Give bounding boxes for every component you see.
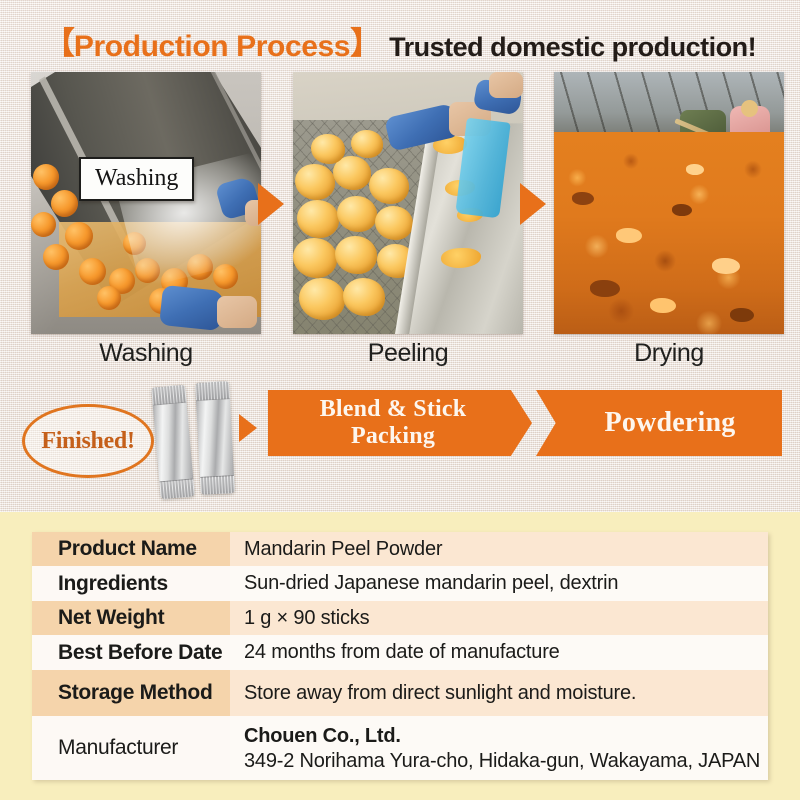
title-bracket-open: 【: [44, 26, 74, 62]
packet-crimp-bottom: [159, 478, 194, 499]
title-bracket-close: 】: [350, 26, 380, 62]
peeled-fruit: [343, 278, 385, 316]
manufacturer-address: 349-2 Norihama Yura-cho, Hidaka-gun, Wak…: [244, 750, 768, 773]
arrow-right-icon: [258, 183, 284, 225]
orange-fruit: [43, 244, 69, 270]
row-label-storage-method: Storage Method: [32, 670, 230, 716]
finished-badge: Finished!: [22, 404, 154, 478]
drying-photo: [554, 72, 784, 334]
packet-crimp-bottom: [200, 475, 235, 495]
orange-fruit: [33, 164, 59, 190]
process-step-peeling: Peeling: [293, 72, 523, 334]
stick-packet: [195, 381, 235, 495]
peeled-fruit: [369, 168, 409, 204]
arrow-right-icon: [520, 183, 546, 225]
worker-glove: [159, 285, 225, 331]
dried-peel-fleck: [616, 228, 642, 243]
peeled-fruit: [297, 200, 339, 238]
arrow-left-flow-icon: [239, 414, 257, 442]
product-info-band: Product Name Mandarin Peel Powder Ingred…: [0, 512, 800, 800]
manufacturer-name: Chouen Co., Ltd.: [244, 725, 768, 748]
title-tagline: Trusted domestic production!: [389, 32, 756, 62]
infographic-page: 【Production Process】Trusted domestic pro…: [0, 0, 800, 800]
blend-line-2: Packing: [351, 423, 435, 449]
dried-peel-fleck: [730, 308, 754, 322]
title-accent-text: Production Process: [74, 30, 350, 63]
peeled-fruit: [295, 164, 335, 200]
packet-crimp-top: [151, 385, 186, 406]
peeled-fruit: [351, 130, 383, 158]
caption-peeling: Peeling: [293, 339, 523, 368]
table-row: Manufacturer Chouen Co., Ltd. 349-2 Nori…: [32, 716, 768, 780]
row-label-manufacturer: Manufacturer: [32, 716, 230, 780]
row-label-product-name: Product Name: [32, 532, 230, 566]
page-title: 【Production Process】Trusted domestic pro…: [0, 18, 800, 64]
peeled-fruit: [293, 238, 337, 278]
peeled-fruit: [311, 134, 345, 164]
finished-label: Finished!: [41, 428, 134, 455]
row-value-product-name: Mandarin Peel Powder: [230, 532, 768, 566]
peeled-fruit: [337, 196, 377, 232]
row-value-storage-method: Store away from direct sunlight and mois…: [230, 670, 768, 716]
row-value-ingredients: Sun-dried Japanese mandarin peel, dextri…: [230, 566, 768, 601]
stick-packet: [151, 385, 195, 500]
row-value-net-weight: 1 g × 90 sticks: [230, 601, 768, 635]
worker-hand: [489, 72, 523, 98]
product-info-table: Product Name Mandarin Peel Powder Ingred…: [32, 532, 768, 780]
worker-head: [741, 100, 758, 117]
orange-fruit: [51, 190, 78, 217]
flow-banner-powdering: Powdering: [536, 390, 782, 456]
washing-photo: [31, 72, 261, 334]
dried-peel-fleck: [686, 164, 704, 175]
table-row: Net Weight 1 g × 90 sticks: [32, 601, 768, 635]
dried-peel-fleck: [590, 280, 620, 297]
process-step-washing: Washing: [31, 72, 261, 334]
orange-fruit: [31, 212, 56, 237]
row-value-manufacturer: Chouen Co., Ltd. 349-2 Norihama Yura-cho…: [230, 716, 768, 780]
blend-line-1: Blend & Stick: [320, 396, 467, 422]
dried-peel-fleck: [672, 204, 692, 216]
orange-fruit: [97, 286, 121, 310]
orange-fruit: [79, 258, 106, 285]
caption-drying: Drying: [554, 339, 784, 368]
flow-banner-blend-packing: Blend & Stick Packing: [268, 390, 532, 456]
caption-washing: Washing: [31, 339, 261, 368]
table-row: Product Name Mandarin Peel Powder: [32, 532, 768, 566]
row-label-best-before: Best Before Date: [32, 635, 230, 670]
row-label-ingredients: Ingredients: [32, 566, 230, 601]
sticker-label-washing: Washing: [79, 157, 194, 201]
dried-peel-fleck: [712, 258, 740, 274]
orange-fruit: [65, 222, 93, 250]
peeled-fruit: [299, 278, 345, 320]
peeled-fruit: [335, 236, 377, 274]
table-row: Storage Method Store away from direct su…: [32, 670, 768, 716]
blend-banner-text: Blend & Stick Packing: [320, 396, 481, 450]
row-label-net-weight: Net Weight: [32, 601, 230, 635]
worker-hand: [217, 296, 257, 328]
table-row: Ingredients Sun-dried Japanese mandarin …: [32, 566, 768, 601]
peeled-fruit: [375, 206, 413, 240]
row-value-best-before: 24 months from date of manufacture: [230, 635, 768, 670]
dried-peel-fleck: [572, 192, 594, 205]
table-row: Best Before Date 24 months from date of …: [32, 635, 768, 670]
packet-crimp-top: [195, 381, 230, 401]
powdering-banner-text: Powdering: [583, 407, 736, 438]
peeling-photo: [293, 72, 523, 334]
process-step-drying: Drying: [554, 72, 784, 334]
dried-peel-fleck: [650, 298, 676, 313]
